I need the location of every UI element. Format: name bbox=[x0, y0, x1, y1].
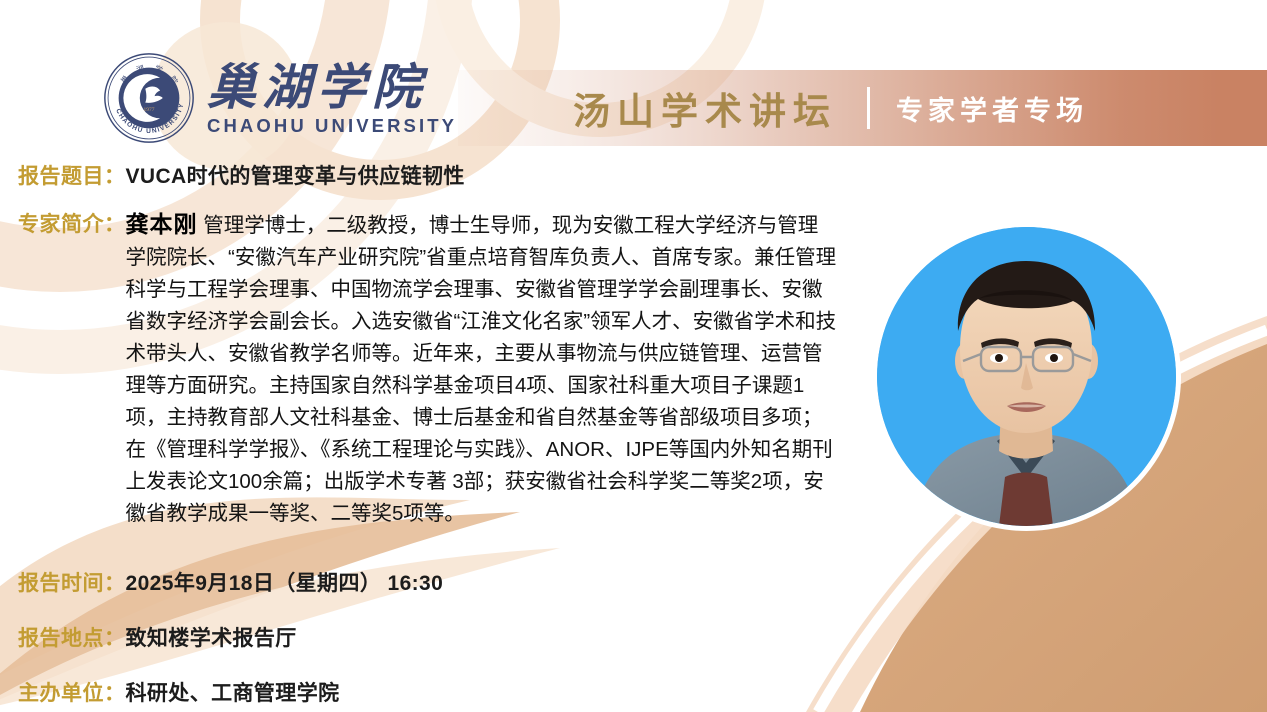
university-name-cn: 巢湖学院 bbox=[207, 63, 457, 113]
chaohu-university-seal-icon: 1977 巢 湖 学 院 CHAOHU UNIVERSITY bbox=[103, 52, 195, 144]
speaker-bio-text: 管理学博士，二级教授，博士生导师，现为安徽工程大学经济与管理学院院长、“安徽汽车… bbox=[126, 214, 837, 525]
university-name-en: CHAOHU UNIVERSITY bbox=[207, 117, 457, 136]
lecture-time-value: 2025年9月18日（星期四） 16:30 bbox=[126, 567, 444, 597]
lecture-title-row: 报告题目： VUCA时代的管理变革与供应链韧性 bbox=[18, 160, 465, 190]
lecture-title-value: VUCA时代的管理变革与供应链韧性 bbox=[126, 160, 465, 190]
forum-banner: 汤山学术讲坛 专家学者专场 bbox=[458, 70, 1267, 146]
banner-divider bbox=[867, 87, 870, 129]
university-logo: 1977 巢 湖 学 院 CHAOHU UNIVERSITY 巢湖学院 CHAO… bbox=[103, 52, 457, 144]
organizer-label: 主办单位： bbox=[18, 677, 126, 707]
lecture-time-row: 报告时间： 2025年9月18日（星期四） 16:30 bbox=[18, 567, 443, 597]
speaker-bio-body: 龚本刚 管理学博士，二级教授，博士生导师，现为安徽工程大学经济与管理学院院长、“… bbox=[126, 208, 838, 530]
speaker-portrait bbox=[877, 227, 1176, 526]
poster-header: 1977 巢 湖 学 院 CHAOHU UNIVERSITY 巢湖学院 CHAO… bbox=[0, 0, 1267, 150]
poster-root: 1977 巢 湖 学 院 CHAOHU UNIVERSITY 巢湖学院 CHAO… bbox=[0, 0, 1267, 712]
lecture-title-label: 报告题目： bbox=[18, 160, 126, 190]
organizer-value: 科研处、工商管理学院 bbox=[126, 677, 340, 707]
lecture-place-label: 报告地点： bbox=[18, 622, 126, 652]
lecture-place-value: 致知楼学术报告厅 bbox=[126, 622, 297, 652]
svg-text:1977: 1977 bbox=[143, 107, 154, 113]
speaker-bio-row: 专家简介： 龚本刚 管理学博士，二级教授，博士生导师，现为安徽工程大学经济与管理… bbox=[18, 208, 858, 530]
forum-subtitle: 专家学者专场 bbox=[896, 89, 1088, 128]
organizer-row: 主办单位： 科研处、工商管理学院 bbox=[18, 677, 340, 707]
university-wordmark: 巢湖学院 CHAOHU UNIVERSITY bbox=[207, 61, 457, 135]
lecture-time-label: 报告时间： bbox=[18, 567, 126, 597]
speaker-bio-label: 专家简介： bbox=[18, 208, 126, 238]
lecture-place-row: 报告地点： 致知楼学术报告厅 bbox=[18, 622, 297, 652]
forum-title: 汤山学术讲坛 bbox=[573, 81, 837, 135]
speaker-name: 龚本刚 bbox=[126, 211, 198, 237]
